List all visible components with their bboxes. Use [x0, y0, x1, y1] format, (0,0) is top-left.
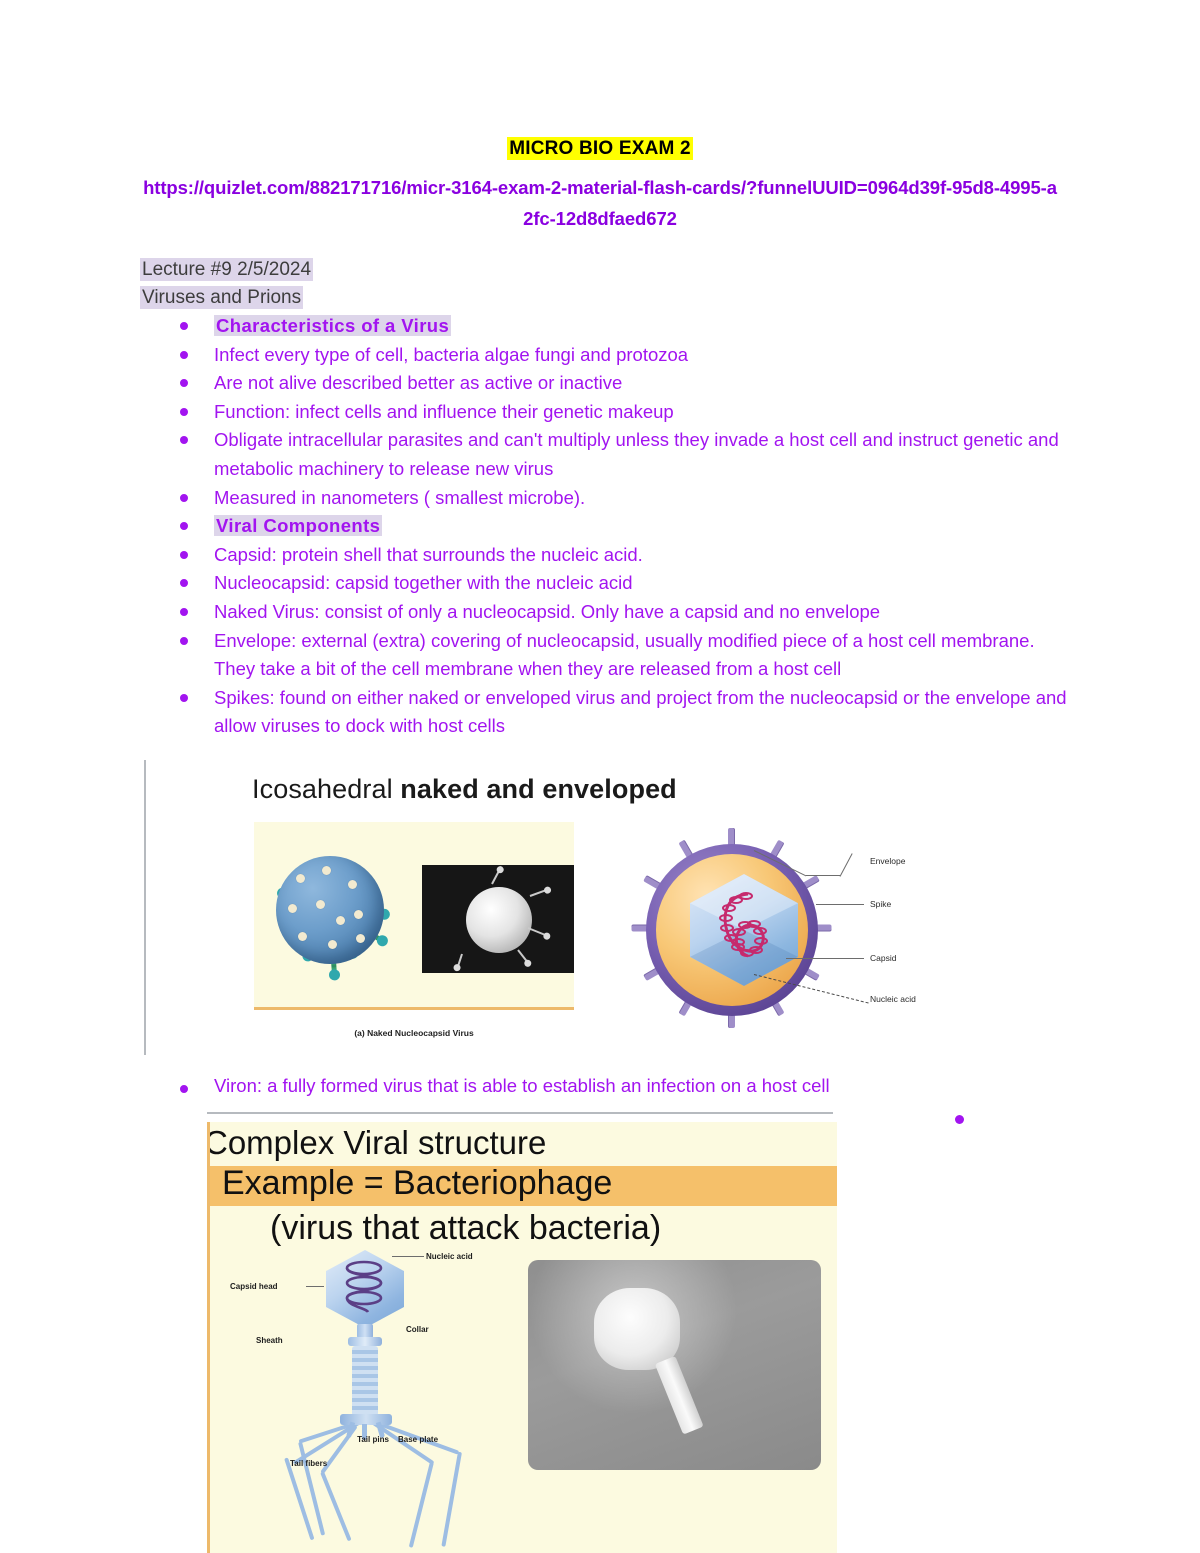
figure-icosahedral: Icosahedral naked and enveloped: [144, 760, 1004, 1060]
virion-capsid-core: [276, 856, 384, 964]
label-spike: Spike: [870, 899, 891, 909]
bullet-dot-icon: [178, 578, 189, 589]
list-item: Are not alive described better as active…: [172, 369, 1072, 398]
em-spike: [528, 927, 547, 936]
bullet-dot-icon: [178, 320, 189, 331]
document-page: MICRO BIO EXAM 2 https://quizlet.com/882…: [0, 0, 1200, 1553]
orphan-bullet-dot-icon: [953, 1113, 966, 1126]
bacteriophage-slide: Complex Viral structure Example = Bacter…: [207, 1122, 837, 1553]
bullet-dot-icon: [178, 406, 189, 417]
list-item: Obligate intracellular parasites and can…: [172, 426, 1072, 483]
leader-line: [840, 853, 853, 876]
figure-left-rule: [144, 760, 146, 1055]
list-item-label: Naked Virus: consist of only a nucleocap…: [214, 601, 880, 622]
lecture-line: Lecture #9 2/5/2024: [140, 256, 313, 283]
em-spike: [457, 954, 463, 968]
bullet-dot-icon: [178, 1083, 189, 1094]
list-item: Envelope: external (extra) covering of n…: [172, 627, 1072, 684]
leader-line: [392, 1256, 424, 1257]
bullet-dot-icon: [178, 435, 189, 446]
bullet-dot-icon: [178, 520, 189, 531]
list-item: Function: infect cells and influence the…: [172, 398, 1072, 427]
tail-fiber: [298, 1442, 325, 1536]
leader-line: [306, 1286, 324, 1287]
label-capsid: Capsid: [870, 953, 896, 963]
list-item: Measured in nanometers ( smallest microb…: [172, 484, 1072, 513]
list-item-label: Viral Components: [214, 515, 382, 536]
nucleic-acid-coil-icon: [712, 888, 776, 972]
bullet-dot-icon: [178, 606, 189, 617]
em-spike: [530, 889, 548, 897]
list-item-label: Infect every type of cell, bacteria alga…: [214, 344, 688, 365]
list-item-label: Nucleocapsid: capsid together with the n…: [214, 572, 633, 593]
page-title: MICRO BIO EXAM 2: [0, 138, 1200, 160]
list-item: Viral Components: [172, 512, 1072, 541]
bacteriophage-drawing: Nucleic acid Capsid head Collar Sheath T…: [210, 1242, 837, 1553]
list-item-label: Are not alive described better as active…: [214, 372, 622, 393]
figure-title-plain: Icosahedral: [252, 774, 400, 804]
topic-line: Viruses and Prions: [140, 284, 303, 311]
leader-line: [806, 875, 840, 876]
electron-micrograph-inset: [422, 865, 574, 973]
list-item-label: Function: infect cells and influence the…: [214, 401, 674, 422]
list-item: Naked Virus: consist of only a nucleocap…: [172, 598, 1072, 627]
em-virion-blob: [466, 887, 532, 953]
label-capsid-head: Capsid head: [230, 1281, 278, 1292]
label-tail-pins: Tail pins: [356, 1434, 390, 1445]
list-item-label: Obligate intracellular parasites and can…: [214, 429, 1059, 479]
label-tail-fibers: Tail fibers: [290, 1458, 326, 1469]
label-envelope: Envelope: [870, 856, 905, 866]
em-spike: [491, 869, 500, 884]
leader-line: [816, 904, 864, 905]
tail-fiber: [320, 1471, 351, 1541]
quizlet-url-link[interactable]: https://quizlet.com/882171716/micr-3164-…: [140, 172, 1060, 234]
slide-title-complex: Complex Viral structure: [207, 1124, 546, 1162]
figure-top-rule: [207, 1112, 833, 1114]
em-phage-head: [594, 1288, 680, 1370]
figure-icosahedral-title: Icosahedral naked and enveloped: [252, 774, 677, 805]
slide-title-example: Example = Bacteriophage: [222, 1164, 612, 1203]
naked-nucleocapsid-caption: (a) Naked Nucleocapsid Virus: [254, 1028, 574, 1038]
notes-bullet-list: Characteristics of a Virus Infect every …: [172, 312, 1072, 741]
enveloped-virus-diagram: Envelope Spike Capsid Nucleic acid: [634, 842, 1004, 1050]
list-item: Characteristics of a Virus: [172, 312, 1072, 341]
label-nucleic-acid: Nucleic acid: [426, 1251, 473, 1262]
label-nucleic-acid: Nucleic acid: [870, 994, 916, 1004]
list-item: Capsid: protein shell that surrounds the…: [172, 541, 1072, 570]
em-phage-tail: [655, 1356, 704, 1435]
phage-electron-micrograph: [528, 1260, 821, 1470]
list-item: Spikes: found on either naked or envelop…: [172, 684, 1072, 741]
list-item: Infect every type of cell, bacteria alga…: [172, 341, 1072, 370]
em-spike: [517, 949, 528, 963]
list-item-label: Spikes: found on either naked or envelop…: [214, 687, 1067, 737]
list-item-label: Characteristics of a Virus: [214, 315, 451, 336]
bullet-dot-icon: [178, 349, 189, 360]
lecture-line-text: Lecture #9 2/5/2024: [140, 258, 313, 281]
bullet-dot-icon: [178, 378, 189, 389]
topic-line-text: Viruses and Prions: [140, 286, 303, 309]
list-item-viron: Viron: a fully formed virus that is able…: [172, 1075, 1114, 1097]
tail-fiber: [441, 1452, 462, 1547]
phage-neck: [357, 1324, 373, 1338]
label-base-plate: Base plate: [398, 1434, 436, 1445]
list-item-label: Viron: a fully formed virus that is able…: [214, 1075, 830, 1096]
figure-title-bold: naked and enveloped: [400, 774, 676, 804]
naked-nucleocapsid-panel: [254, 822, 574, 1010]
bullet-dot-icon: [178, 492, 189, 503]
list-item-label: Envelope: external (extra) covering of n…: [214, 630, 1035, 680]
figure-bacteriophage: Complex Viral structure Example = Bacter…: [207, 1112, 837, 1553]
label-sheath: Sheath: [256, 1335, 283, 1346]
label-collar: Collar: [406, 1324, 429, 1335]
page-title-text: MICRO BIO EXAM 2: [507, 137, 693, 160]
tail-fiber: [409, 1462, 434, 1548]
list-item-label: Capsid: protein shell that surrounds the…: [214, 544, 643, 565]
phage-nucleic-acid-coil-icon: [336, 1258, 392, 1322]
list-item-label: Measured in nanometers ( smallest microb…: [214, 487, 585, 508]
phage-collar: [348, 1337, 382, 1346]
leader-line: [786, 958, 864, 959]
bullet-dot-icon: [178, 549, 189, 560]
tail-fiber: [284, 1457, 314, 1540]
bullet-dot-icon: [178, 692, 189, 703]
bullet-dot-icon: [178, 635, 189, 646]
phage-sheath: [352, 1346, 378, 1416]
list-item: Nucleocapsid: capsid together with the n…: [172, 569, 1072, 598]
